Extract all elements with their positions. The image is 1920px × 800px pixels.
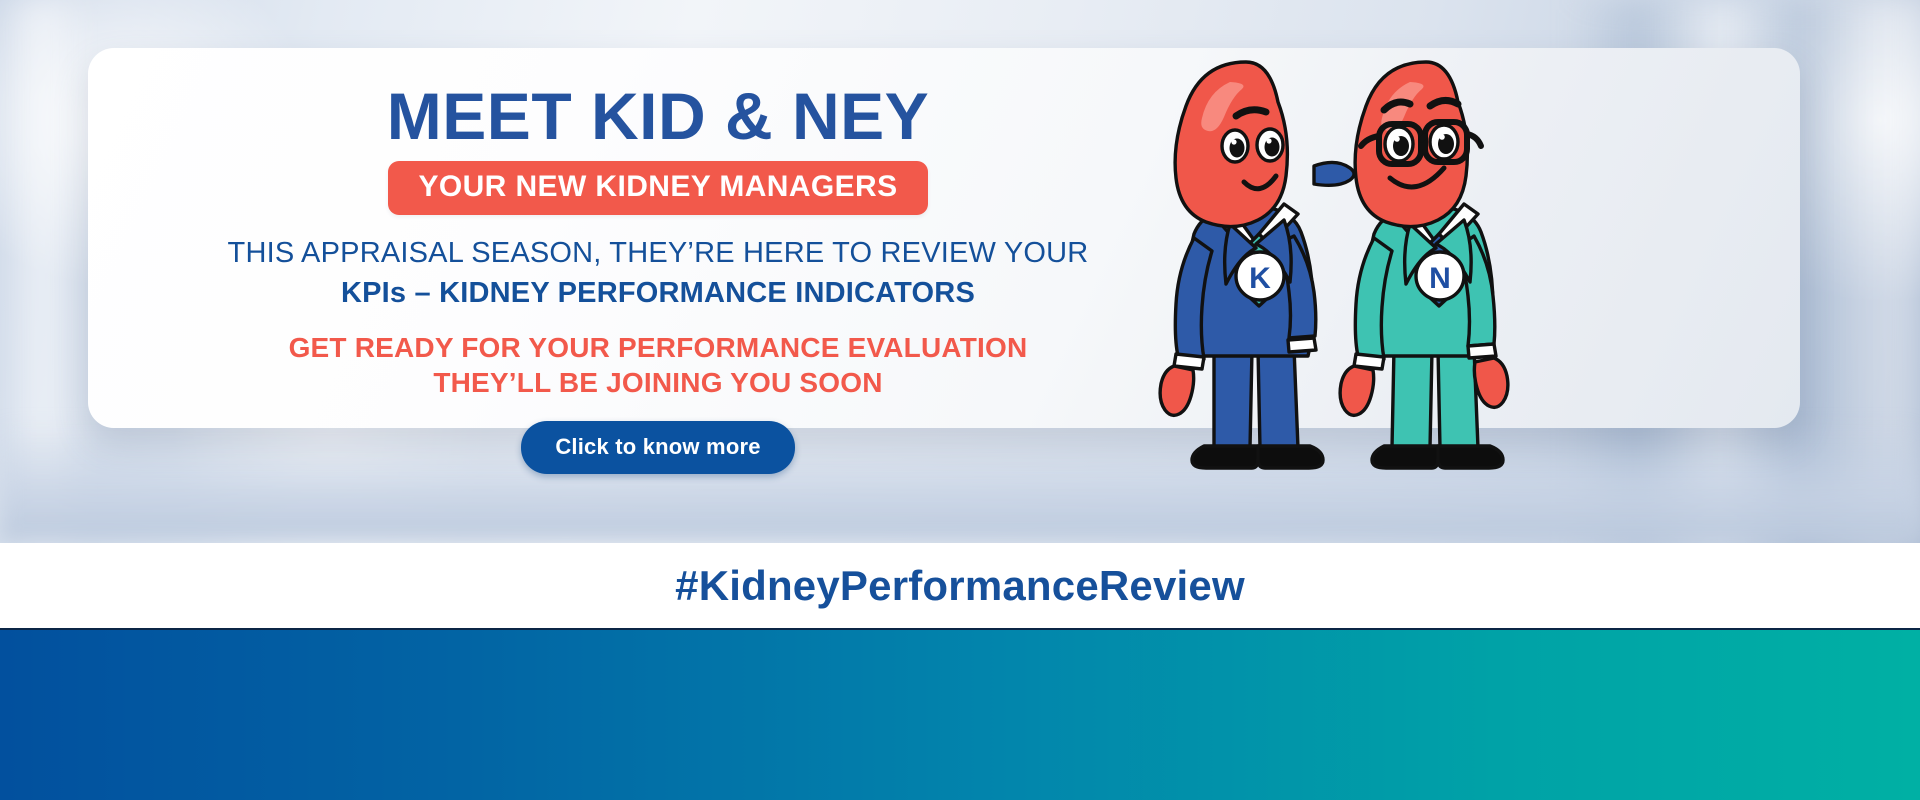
hero-alert-line-2: THEY’LL BE JOINING YOU SOON: [289, 365, 1028, 401]
kidney-mascots-illustration: K: [1118, 48, 1588, 478]
status-badge: YOUR NEW KIDNEY MANAGERS: [388, 161, 927, 215]
hero-alert-line-1: GET READY FOR YOUR PERFORMANCE EVALUATIO…: [289, 330, 1028, 366]
hero-floor-blur: [0, 423, 1920, 543]
mascot-kid: K: [1160, 62, 1354, 468]
hashtag-text: #KidneyPerformanceReview: [675, 562, 1245, 610]
hero-subtitle-line-2: KPIs – KIDNEY PERFORMANCE INDICATORS: [228, 275, 1089, 312]
ney-badge-letter: N: [1429, 262, 1451, 295]
hashtag-band: #KidneyPerformanceReview: [0, 543, 1920, 628]
bottom-gradient-bar: [0, 628, 1920, 800]
page-title: MEET KID & NEY: [387, 58, 929, 151]
hero-card: MEET KID & NEY YOUR NEW KIDNEY MANAGERS …: [88, 48, 1800, 428]
kid-badge-letter: K: [1249, 262, 1271, 295]
hero-copy-block: MEET KID & NEY YOUR NEW KIDNEY MANAGERS …: [148, 58, 1168, 428]
banner-stage: MEET KID & NEY YOUR NEW KIDNEY MANAGERS …: [0, 0, 1920, 800]
hero-subtitle-line-1: THIS APPRAISAL SEASON, THEY’RE HERE TO R…: [228, 235, 1089, 272]
hero-subtitle: THIS APPRAISAL SEASON, THEY’RE HERE TO R…: [228, 235, 1089, 312]
click-to-know-more-button[interactable]: Click to know more: [521, 421, 794, 474]
hero-alert: GET READY FOR YOUR PERFORMANCE EVALUATIO…: [289, 330, 1028, 401]
mascot-ney: N: [1340, 62, 1508, 468]
